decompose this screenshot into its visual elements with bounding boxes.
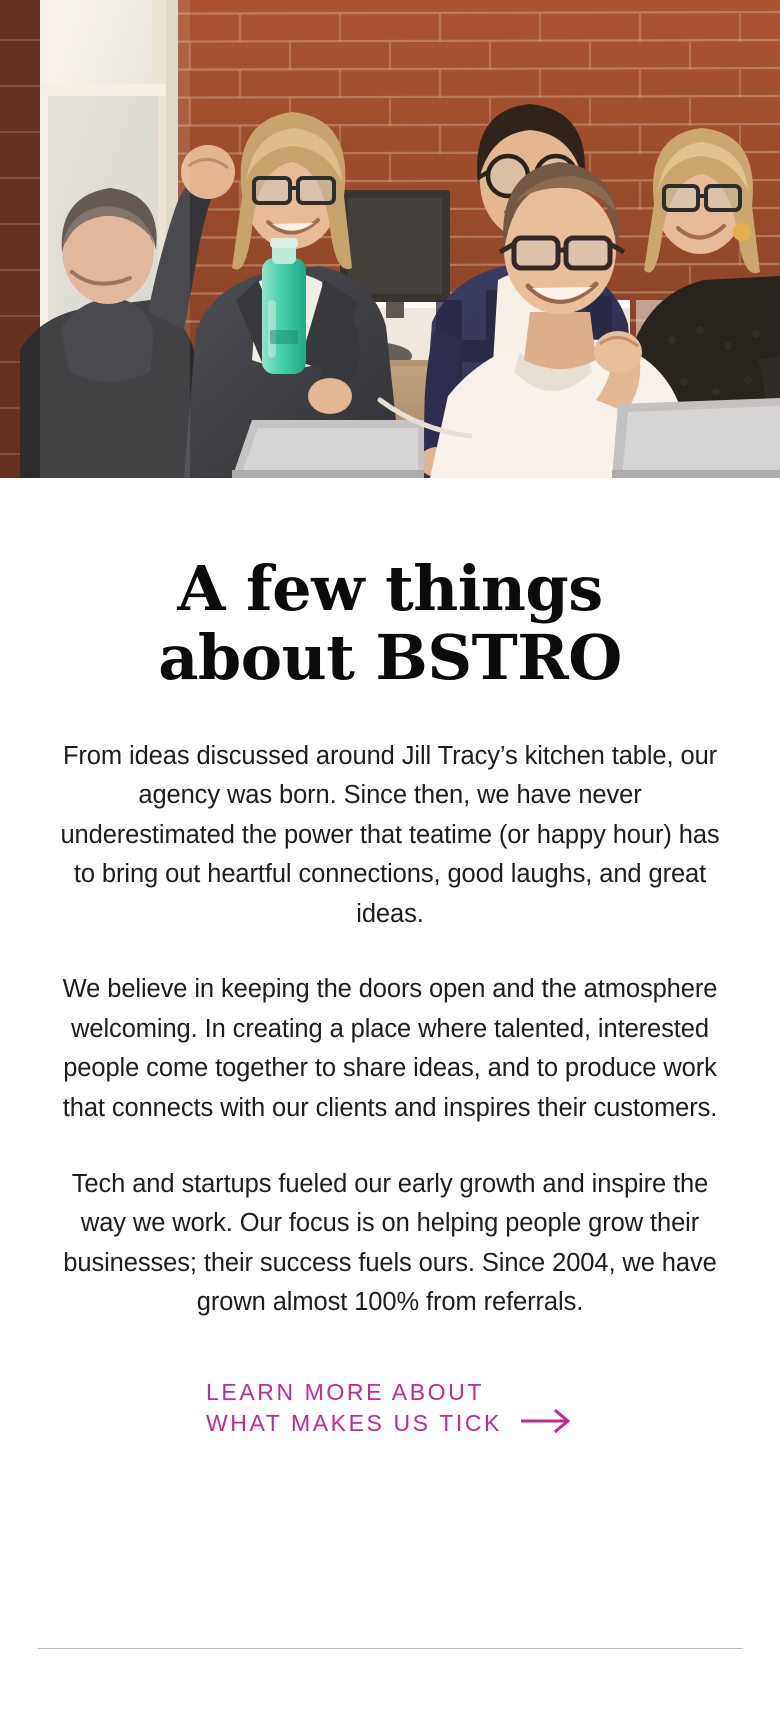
cta-container: LEARN MORE ABOUT WHAT MAKES US TICK	[40, 1377, 740, 1439]
paragraph-2: We believe in keeping the doors open and…	[58, 970, 722, 1128]
about-bstro-page: A few things about BSTRO From ideas disc…	[0, 0, 780, 1714]
paragraph-3: Tech and startups fueled our early growt…	[58, 1165, 722, 1323]
about-content: A few things about BSTRO From ideas disc…	[0, 554, 780, 1439]
cta-line-2: WHAT MAKES US TICK	[206, 1408, 502, 1439]
cta-line-1: LEARN MORE ABOUT	[206, 1377, 502, 1408]
paragraph-1: From ideas discussed around Jill Tracy’s…	[58, 737, 722, 935]
body-copy: From ideas discussed around Jill Tracy’s…	[40, 737, 740, 1323]
hero-photo-illustration	[0, 0, 780, 478]
hero-team-photo	[0, 0, 780, 478]
page-title: A few things about BSTRO	[40, 554, 740, 693]
headline-line-2: about BSTRO	[40, 623, 740, 692]
learn-more-link[interactable]: LEARN MORE ABOUT WHAT MAKES US TICK	[206, 1377, 574, 1439]
headline-line-1: A few things	[40, 554, 740, 623]
footer-divider-container	[0, 1648, 780, 1649]
cta-label: LEARN MORE ABOUT WHAT MAKES US TICK	[206, 1377, 502, 1439]
arrow-right-icon	[520, 1408, 574, 1434]
horizontal-rule	[38, 1648, 742, 1649]
